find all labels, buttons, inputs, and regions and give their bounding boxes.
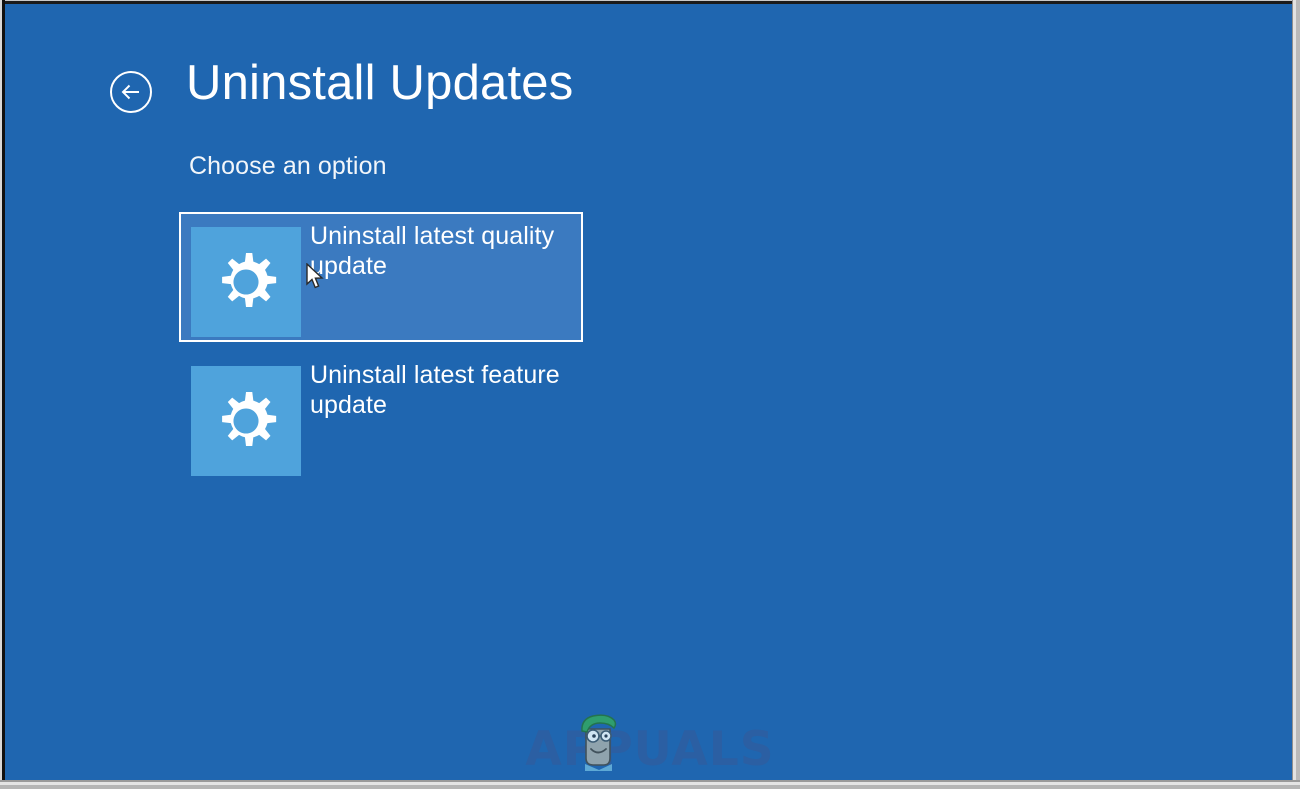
gear-icon bbox=[213, 388, 279, 454]
option-label: Uninstall latest quality update bbox=[310, 221, 570, 281]
page-title: Uninstall Updates bbox=[186, 57, 573, 111]
appuals-watermark: APPUALS bbox=[0, 707, 1300, 773]
screen-edge-bottom bbox=[0, 780, 1300, 789]
header: Uninstall Updates Choose an option bbox=[0, 0, 1300, 140]
option-uninstall-latest-quality-update[interactable]: Uninstall latest quality update bbox=[179, 212, 583, 342]
back-arrow-circle-icon bbox=[109, 70, 153, 114]
tile-inner: Uninstall latest quality update bbox=[181, 214, 581, 340]
gear-icon bbox=[213, 249, 279, 315]
option-label: Uninstall latest feature update bbox=[310, 360, 570, 420]
appuals-mascot-icon bbox=[576, 711, 622, 771]
watermark-text: APPUALS bbox=[520, 726, 780, 773]
gear-icon-box bbox=[191, 366, 301, 476]
option-uninstall-latest-feature-update[interactable]: Uninstall latest feature update bbox=[179, 352, 583, 482]
choose-an-option-label: Choose an option bbox=[189, 152, 387, 181]
winre-screen: Uninstall Updates Choose an option Unins… bbox=[0, 0, 1300, 789]
tile-inner: Uninstall latest feature update bbox=[179, 352, 583, 482]
gear-icon-box bbox=[191, 227, 301, 337]
back-button[interactable] bbox=[109, 70, 153, 114]
